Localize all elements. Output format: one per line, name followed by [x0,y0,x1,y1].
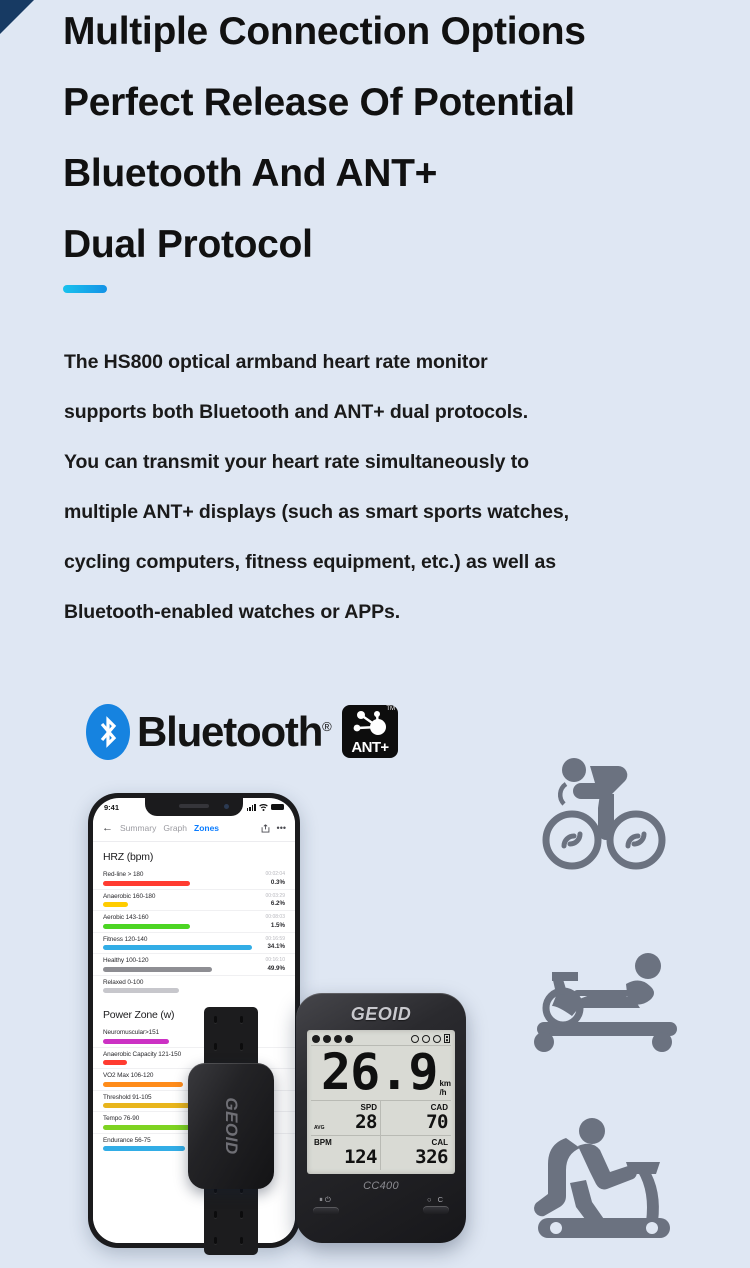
zone-duration: 00:08:03 [266,914,285,920]
armband-heart-rate-monitor: GEOID [188,1007,274,1255]
zone-progress-bar [103,1039,169,1044]
headline-line-3: Bluetooth And ANT+ [63,138,723,209]
power-button[interactable] [313,1207,339,1215]
play-icon [334,1035,342,1043]
zone-progress-bar [103,988,179,993]
ant-molecule-icon [351,710,389,737]
bluetooth-logo: Bluetooth® [86,704,331,760]
zone-progress-bar [103,902,128,907]
more-options-icon[interactable]: ••• [277,823,286,833]
ant-plus-logo: TM ANT+ [342,705,398,758]
zone-progress-bar [103,924,190,929]
dot-icon [323,1035,331,1043]
lcd-speed-unit: km/h [439,1079,451,1097]
right-button-glyph: ○ C [423,1195,449,1204]
hrz-section-title: HRZ (bpm) [93,842,295,868]
zone-progress-bar [103,945,252,950]
product-feature-page: Multiple Connection Options Perfect Rele… [0,0,750,1268]
signal-icon [247,804,256,811]
zone-label: Healthy 100-120 [103,957,285,964]
lcd-cell-spd: SPD 28 AVG [311,1101,381,1136]
gps-icon [312,1035,320,1043]
zone-row[interactable]: Anaerobic 160-18000:03:296.2% [93,889,295,911]
lcd-avg-badge: AVG [314,1125,324,1131]
description-block: The HS800 optical armband heart rate mon… [64,337,744,637]
status-bar-time: 9:41 [104,803,119,812]
battery-icon [271,804,284,811]
zone-percentage: 0.3% [271,879,285,886]
zone-row[interactable]: Aerobic 143-16000:08:031.5% [93,910,295,932]
zone-label: Relaxed 0-100 [103,979,285,986]
description-line-1: The HS800 optical armband heart rate mon… [64,337,744,387]
lcd-cell-cad: CAD 70 [381,1101,451,1136]
zone-row[interactable]: Fitness 120-14000:16:5934.1% [93,932,295,954]
zone-progress-bar [103,881,190,886]
headline-line-2: Perfect Release Of Potential [63,67,723,138]
bluetooth-wordmark: Bluetooth® [137,711,331,753]
clock-icon [422,1035,430,1043]
lcd-metrics-grid: SPD 28 AVG CAD 70 BPM 124 CAL 326 [311,1101,451,1170]
corner-wedge-decoration [0,0,34,34]
description-line-6: Bluetooth-enabled watches or APPs. [64,587,744,637]
lcd-cell-cal: CAL 326 [381,1136,451,1170]
lcd-value-cal: 326 [384,1147,448,1167]
lcd-battery-icon [444,1034,450,1043]
tab-summary[interactable]: Summary [120,823,156,833]
bike-computer-model-label: CC400 [307,1180,455,1192]
status-bar-indicators [247,804,284,811]
headline-block: Multiple Connection Options Perfect Rele… [63,0,723,280]
description-line-3: You can transmit your heart rate simulta… [64,437,744,487]
treadmill-icon [530,1118,680,1245]
app-navigation-bar: ← Summary Graph Zones ••• [93,816,295,842]
share-icon[interactable] [261,824,270,833]
zone-label: Aerobic 143-160 [103,914,285,921]
zone-row[interactable]: Red-line > 18000:02:040.3% [93,868,295,889]
zone-progress-bar [103,1060,127,1065]
zone-duration: 00:02:04 [266,871,285,877]
armband-sensor-pod: GEOID [188,1063,274,1189]
left-button-glyph: ⏸⏻ [313,1195,339,1205]
zone-label: Fitness 120-140 [103,936,285,943]
bluetooth-word-text: Bluetooth [137,708,322,755]
bike-computer-brand: GEOID [307,1004,455,1025]
description-line-5: cycling computers, fitness equipment, et… [64,537,744,587]
bluetooth-icon [86,704,130,760]
zone-duration: 00:03:29 [266,893,285,899]
zone-duration: 00:16:10 [266,957,285,963]
lcd-speed-unit-top: km [439,1079,451,1088]
tab-graph[interactable]: Graph [163,823,187,833]
right-button-group: ○ C [423,1195,449,1215]
zone-label: Anaerobic 160-180 [103,893,285,900]
left-button-group: ⏸⏻ [313,1195,339,1215]
pause-icon [345,1035,353,1043]
armband-brand-label: GEOID [221,1097,241,1154]
bluetooth-registered-mark: ® [322,719,330,734]
wifi-icon [259,804,268,811]
zone-duration: 00:16:59 [266,936,285,942]
zone-label: Red-line > 180 [103,871,285,878]
rowing-machine-icon [530,950,680,1067]
lcd-speed-readout: 26.9km/h [311,1046,451,1101]
headline-line-4: Dual Protocol [63,209,723,280]
ant-wordmark: ANT+ [342,740,398,755]
zone-percentage: 34.1% [267,943,285,950]
bike-computer-lcd: 26.9km/h SPD 28 AVG CAD 70 BPM 124 CAL [307,1030,455,1174]
description-line-2: supports both Bluetooth and ANT+ dual pr… [64,387,744,437]
cycling-icon [538,752,666,879]
accent-divider-bar [63,285,107,293]
tab-zones[interactable]: Zones [194,823,219,833]
zone-progress-bar [103,1082,183,1087]
bike-computer-button-row: ⏸⏻ ○ C [307,1192,455,1215]
lcd-value-cad: 70 [384,1112,448,1132]
headline-line-1: Multiple Connection Options [63,0,723,67]
timer-icon [433,1035,441,1043]
zone-row[interactable]: Relaxed 0-100 [93,975,295,997]
zone-percentage: 6.2% [271,900,285,907]
hrz-zone-list: Red-line > 18000:02:040.3%Anaerobic 160-… [93,868,295,996]
lcd-cell-bpm: BPM 124 [311,1136,381,1170]
lcd-value-bpm: 124 [314,1147,377,1167]
strap-holes-bottom [214,1186,248,1246]
zone-progress-bar [103,1146,185,1151]
lcd-speed-unit-bottom: /h [439,1088,446,1097]
zone-percentage: 49.9% [267,965,285,972]
description-line-4: multiple ANT+ displays (such as smart sp… [64,487,744,537]
zone-row[interactable]: Healthy 100-12000:16:1049.9% [93,953,295,975]
zone-percentage: 1.5% [271,922,285,929]
bike-computer-device: GEOID 26.9km/h SPD 28 AVG [296,993,466,1243]
target-icon [411,1035,419,1043]
phone-status-bar: 9:41 [93,798,295,816]
lap-button[interactable] [423,1206,449,1214]
lcd-speed-value: 26.9 [321,1047,437,1097]
zone-progress-bar [103,967,212,972]
back-arrow-icon[interactable]: ← [102,822,113,834]
